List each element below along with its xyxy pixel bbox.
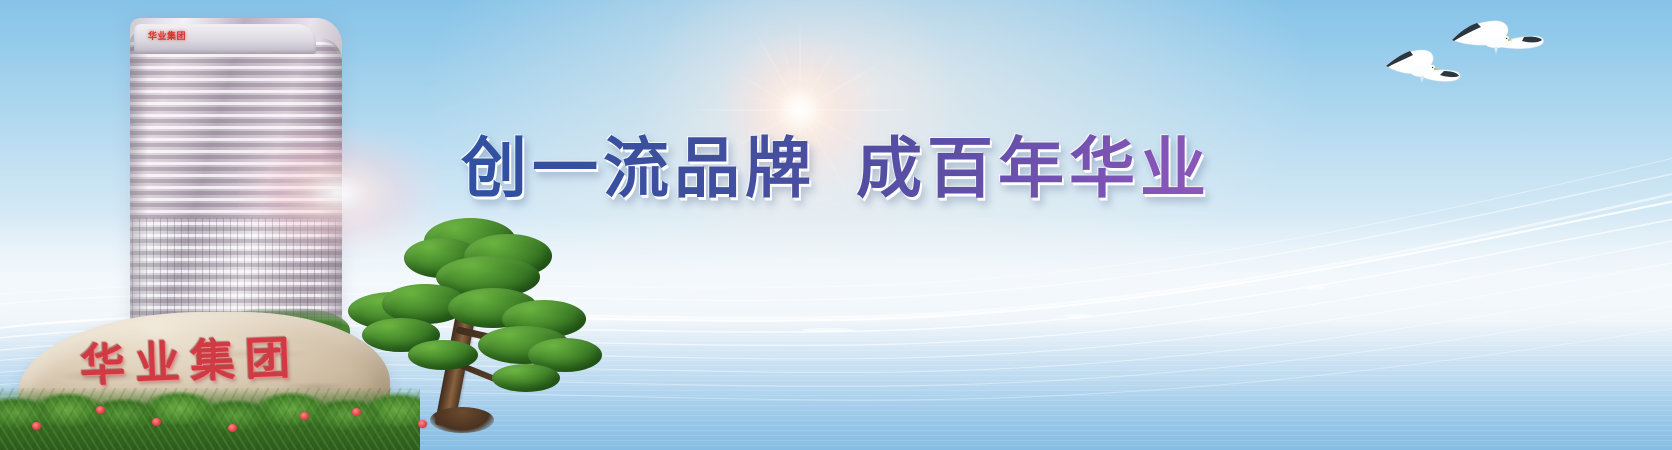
hero-banner: 华业集团 华业集团: [0, 0, 1672, 450]
flower-icon: [152, 418, 161, 426]
flower-icon: [32, 422, 41, 430]
bonsai-foliage-pad: [492, 364, 560, 392]
flower-icon: [352, 408, 361, 416]
slogan-part-1: 创一流品牌: [461, 130, 816, 207]
flower-icon: [96, 406, 105, 414]
slogan-headline: 创一流品牌成百年华业: [0, 133, 1672, 204]
bonsai-root-flare: [430, 407, 494, 433]
seagull-upper-icon: [1452, 21, 1544, 54]
slogan-part-2: 成百年华业: [856, 130, 1211, 207]
rooftop-sign: 华业集团: [148, 29, 186, 42]
seagulls-group: [1372, 8, 1562, 118]
hedge-leaf-texture: [0, 388, 420, 450]
flower-icon: [228, 424, 237, 432]
flower-icon: [418, 420, 427, 428]
seagull-lower-icon: [1386, 50, 1460, 83]
bonsai-foliage-pad: [408, 340, 478, 370]
flower-icon: [300, 412, 309, 420]
